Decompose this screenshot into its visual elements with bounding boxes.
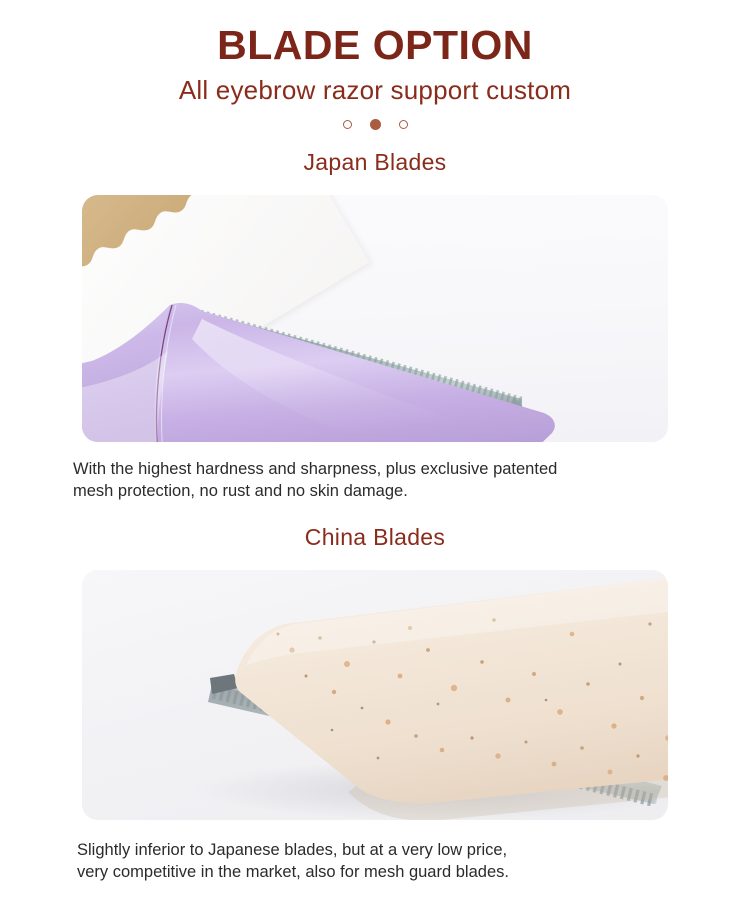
page-header: BLADE OPTION All eyebrow razor support c…: [0, 0, 750, 131]
caption-china-blades: Slightly inferior to Japanese blades, bu…: [63, 839, 687, 883]
lavender-razor: [82, 287, 668, 442]
page-subtitle: All eyebrow razor support custom: [0, 74, 750, 106]
product-detail-page: BLADE OPTION All eyebrow razor support c…: [0, 0, 750, 901]
pager-dot-3[interactable]: [399, 120, 408, 129]
section-heading-china-blades: China Blades: [0, 523, 750, 551]
caption-japan-blades: With the highest hardness and sharpness,…: [67, 458, 683, 502]
wheat-straw-razor: [142, 580, 668, 820]
product-photo-japan-blades: [82, 195, 668, 442]
pager-dot-2[interactable]: [370, 119, 381, 130]
pager-dots: [0, 117, 750, 131]
pager-dot-1[interactable]: [343, 120, 352, 129]
caption-line: With the highest hardness and sharpness,…: [73, 458, 683, 480]
caption-line: mesh protection, no rust and no skin dam…: [73, 480, 683, 502]
page-title: BLADE OPTION: [0, 22, 750, 68]
caption-line: Slightly inferior to Japanese blades, bu…: [77, 839, 687, 861]
section-heading-japan-blades: Japan Blades: [0, 148, 750, 176]
caption-line: very competitive in the market, also for…: [77, 861, 687, 883]
product-photo-china-blades: [82, 570, 668, 820]
